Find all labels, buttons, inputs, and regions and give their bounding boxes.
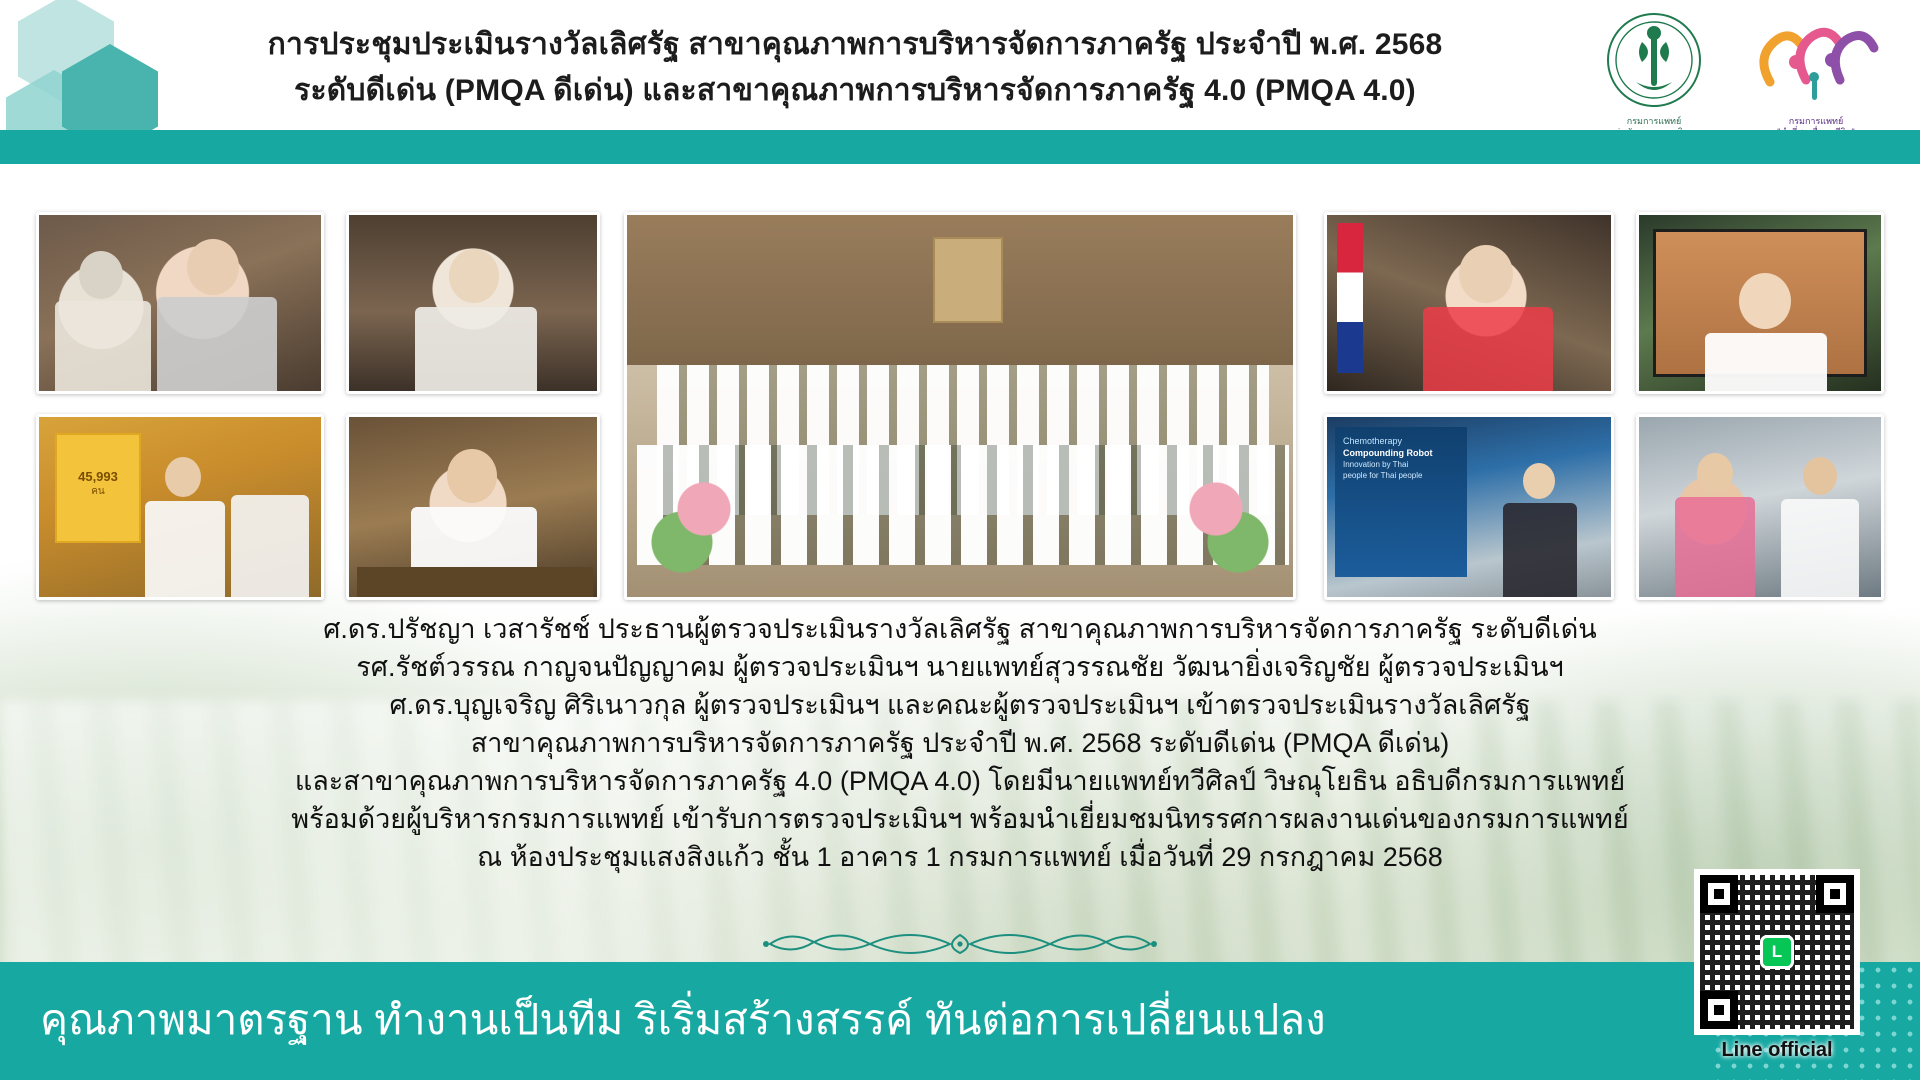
- robot-booth-line-4: people for Thai people: [1343, 470, 1459, 481]
- footer-bar: คุณภาพมาตรฐาน ทำงานเป็นทีม ริเริ่มสร้างส…: [0, 962, 1920, 1080]
- dms-logo: กรมการแพทย์ "ทำที่สุดเพื่อทุกชีวิต": [1736, 10, 1896, 140]
- page-title-line-2: ระดับดีเด่น (PMQA ดีเด่น) และสาขาคุณภาพก…: [210, 68, 1500, 114]
- person-head: [1459, 245, 1513, 303]
- person-head: [79, 251, 123, 299]
- photo-figures: [627, 215, 1293, 597]
- dms-logo-icon: [1736, 10, 1896, 114]
- page-title: การประชุมประเมินรางวัลเลิศรัฐ สาขาคุณภาพ…: [210, 22, 1500, 114]
- photo-group-photo-hall: [624, 212, 1296, 600]
- person-body: [55, 301, 151, 394]
- podium: [357, 567, 593, 600]
- photo-visit-exhibition: [1636, 414, 1884, 600]
- photo-director-speaking: [346, 414, 600, 600]
- person-head: [1739, 273, 1791, 329]
- photo-presentation-screen: [1636, 212, 1884, 394]
- flourish-icon: [700, 927, 1220, 961]
- dms-logo-caption-line1: กรมการแพทย์: [1736, 116, 1896, 127]
- photo-figures: Chemotherapy Compounding Robot Innovatio…: [1327, 417, 1611, 597]
- caption-line-5: และสาขาคุณภาพการบริหารจัดการภาครัฐ 4.0 (…: [60, 762, 1860, 800]
- caption-line-3: ศ.ดร.บุญเจริญ ศิริเนาวกุล ผู้ตรวจประเมิน…: [60, 686, 1860, 724]
- person-body: [1781, 499, 1859, 600]
- booth-unit: คน: [57, 484, 139, 499]
- caption-line-1: ศ.ดร.ปรัชญา เวสารัชช์ ประธานผู้ตรวจประเม…: [60, 610, 1860, 648]
- moph-logo: กรมการแพทย์ กลุ่มพัฒนาระบบบริหาร: [1598, 10, 1710, 140]
- person-body: [157, 297, 277, 394]
- caption-block: ศ.ดร.ปรัชญา เวสารัชช์ ประธานผู้ตรวจประเม…: [60, 610, 1860, 876]
- photo-assessor-microphone: [1324, 212, 1614, 394]
- person-body: [145, 501, 225, 600]
- caption-line-2: รศ.รัชต์วรรณ กาญจนปัญญาคม ผู้ตรวจประเมิน…: [60, 648, 1860, 686]
- moph-logo-caption-line1: กรมการแพทย์: [1598, 116, 1710, 127]
- thai-flag: [1337, 223, 1363, 373]
- person-body: [415, 307, 537, 394]
- robot-booth-line-3: Innovation by Thai: [1343, 459, 1459, 470]
- photo-robot-chemotherapy-booth: Chemotherapy Compounding Robot Innovatio…: [1324, 414, 1614, 600]
- person-body: [1503, 503, 1577, 599]
- photo-figures: [39, 215, 321, 391]
- booth-poster: 45,993 คน: [55, 433, 141, 543]
- person-head: [449, 249, 499, 303]
- person-body: [1423, 307, 1553, 394]
- page-title-line-1: การประชุมประเมินรางวัลเลิศรัฐ สาขาคุณภาพ…: [268, 28, 1443, 61]
- qr-finder-top-right: [1816, 875, 1854, 913]
- photo-assessor-speaking: [346, 212, 600, 394]
- qr-label: Line official: [1682, 1039, 1872, 1062]
- person-body: [1675, 497, 1755, 600]
- photo-figures: [1327, 215, 1611, 391]
- header-teal-band: [0, 130, 1920, 164]
- caption-line-4: สาขาคุณภาพการบริหารจัดการภาครัฐ ประจำปี …: [60, 724, 1860, 762]
- flower-arrangement-left: [649, 465, 759, 575]
- person-body: [1705, 333, 1827, 394]
- moph-logo-icon: [1598, 10, 1710, 118]
- photo-exhibition-booth-yellow: 45,993 คน: [36, 414, 324, 600]
- person-head: [1697, 453, 1733, 493]
- photo-figures: [349, 417, 597, 597]
- footer-slogan: คุณภาพมาตรฐาน ทำงานเป็นทีม ริเริ่มสร้างส…: [40, 984, 1600, 1056]
- person-body: [231, 495, 309, 600]
- flower-arrangement-right: [1161, 465, 1271, 575]
- photo-figures: [1639, 417, 1881, 597]
- person-head: [1523, 463, 1555, 499]
- photo-figures: [1639, 215, 1881, 391]
- qr-block[interactable]: L Line official: [1682, 869, 1872, 1062]
- qr-code[interactable]: L: [1694, 869, 1860, 1035]
- photo-figures: [349, 215, 597, 391]
- qr-finder-top-left: [1700, 875, 1738, 913]
- caption-line-6: พร้อมด้วยผู้บริหารกรมการแพทย์ เข้ารับการ…: [60, 800, 1860, 838]
- person-head: [447, 449, 497, 503]
- line-icon: L: [1760, 935, 1794, 969]
- robot-booth-line-1: Chemotherapy: [1343, 435, 1459, 447]
- photo-gallery: 45,993 คน Chemotherapy Compounding Robot: [36, 212, 1884, 600]
- robot-booth-line-2: Compounding Robot: [1343, 447, 1459, 459]
- caption-line-7: ณ ห้องประชุมแสงสิงแก้ว ชั้น 1 อาคาร 1 กร…: [60, 838, 1860, 876]
- logo-group: กรมการแพทย์ กลุ่มพัฒนาระบบบริหาร: [1598, 10, 1896, 140]
- person-head: [1803, 457, 1837, 495]
- qr-matrix: L: [1700, 875, 1854, 1029]
- qr-finder-bottom-left: [1700, 991, 1738, 1029]
- booth-number: 45,993: [57, 469, 139, 484]
- room-sign: [933, 237, 1003, 323]
- photo-panel-discussion: [36, 212, 324, 394]
- person-head: [187, 239, 239, 295]
- booth-banner: Chemotherapy Compounding Robot Innovatio…: [1335, 427, 1467, 577]
- photo-figures: 45,993 คน: [39, 417, 321, 597]
- poster-root: การประชุมประเมินรางวัลเลิศรัฐ สาขาคุณภาพ…: [0, 0, 1920, 1080]
- person-head: [165, 457, 201, 497]
- ornament-divider: [700, 925, 1220, 963]
